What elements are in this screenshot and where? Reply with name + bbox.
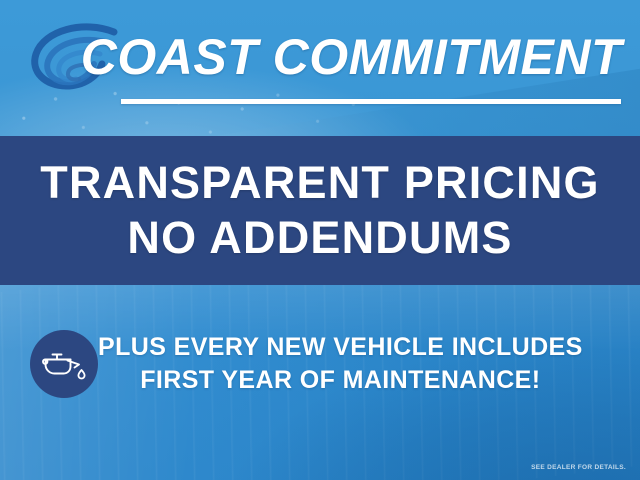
promo-section: PLUS EVERY NEW VEHICLE INCLUDES FIRST YE… xyxy=(0,320,640,408)
banner-header: COAST COMMITMENT xyxy=(0,0,640,136)
page-title: COAST COMMITMENT xyxy=(122,22,622,92)
headline-line-2: NO ADDENDUMS xyxy=(127,213,512,263)
coast-commitment-banner: COAST COMMITMENT TRANSPARENT PRICING NO … xyxy=(0,0,640,480)
disclaimer-text: SEE DEALER FOR DETAILS. xyxy=(531,464,626,471)
headline-band: TRANSPARENT PRICING NO ADDENDUMS xyxy=(0,136,640,285)
header-divider xyxy=(121,99,621,104)
oil-can-icon xyxy=(30,330,98,398)
promo-line-2: FIRST YEAR OF MAINTENANCE! xyxy=(98,364,583,397)
promo-text: PLUS EVERY NEW VEHICLE INCLUDES FIRST YE… xyxy=(98,331,640,397)
headline-line-1: TRANSPARENT PRICING xyxy=(40,158,599,208)
promo-line-1: PLUS EVERY NEW VEHICLE INCLUDES xyxy=(98,331,583,364)
